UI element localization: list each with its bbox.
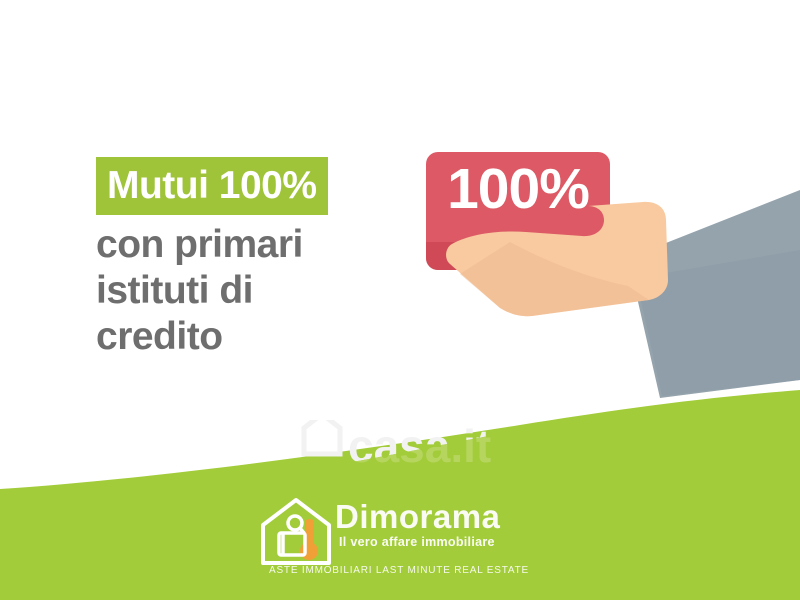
dimorama-logo[interactable]: Dimorama Il vero affare immobiliare ASTE… <box>255 493 545 588</box>
dimorama-wordmark: Dimorama <box>335 500 500 533</box>
headline-body: con primari istituti di credito <box>96 222 426 360</box>
headline-highlight: Mutui 100% <box>96 157 328 215</box>
card-percentage-label: 100% <box>428 156 608 222</box>
dimorama-subtitle: ASTE IMMOBILIARI LAST MINUTE REAL ESTATE <box>259 566 539 576</box>
dimorama-tagline: Il vero affare immobiliare <box>339 536 495 549</box>
headline-line-3: credito <box>96 314 426 360</box>
headline-block: Mutui 100% con primari istituti di credi… <box>96 157 426 360</box>
headline-line-1: con primari <box>96 222 426 268</box>
hand-holding-card-illustration: 100% <box>400 130 800 430</box>
promo-banner: casa.it casa.it Mutui 100% con primari i… <box>0 0 800 600</box>
headline-line-2: istituti di <box>96 268 426 314</box>
dimorama-house-icon <box>255 495 337 567</box>
